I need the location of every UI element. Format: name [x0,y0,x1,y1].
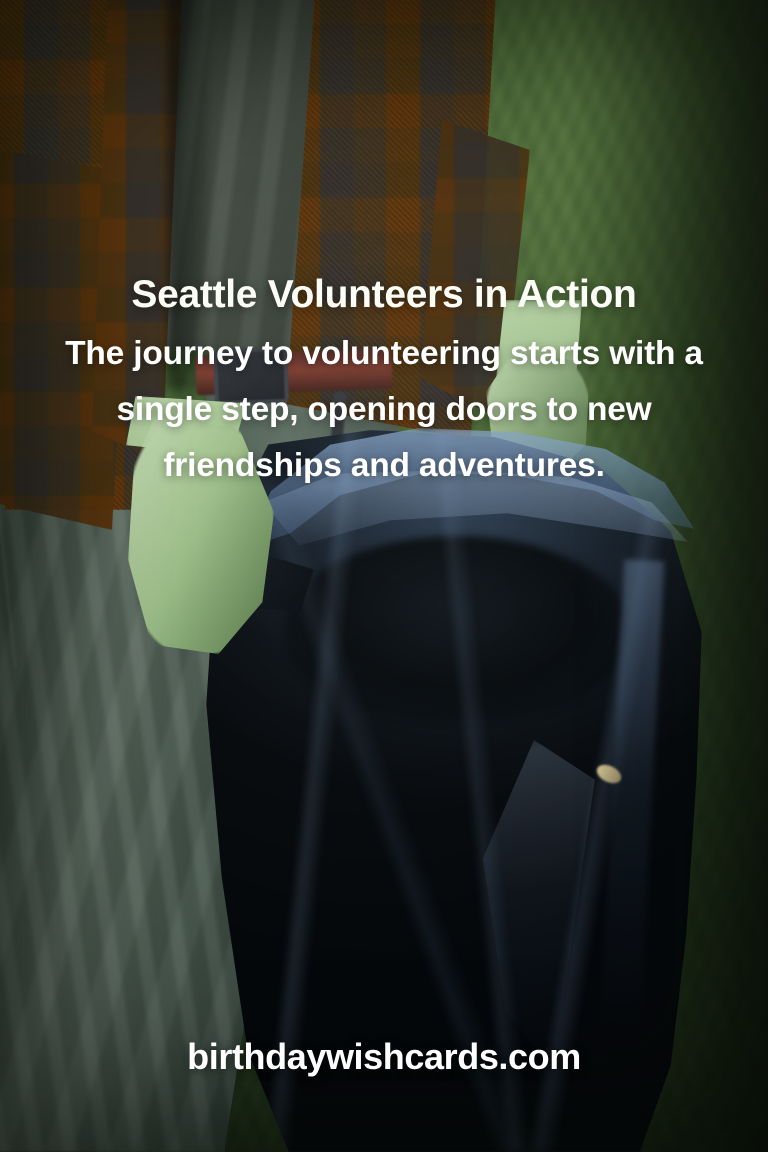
shirt-opening-shadow [168,0,208,390]
belt-buckle [213,347,289,406]
greeting-card-image: Seattle Volunteers in Action The journey… [0,0,768,1152]
site-watermark: birthdaywishcards.com [0,1036,768,1078]
